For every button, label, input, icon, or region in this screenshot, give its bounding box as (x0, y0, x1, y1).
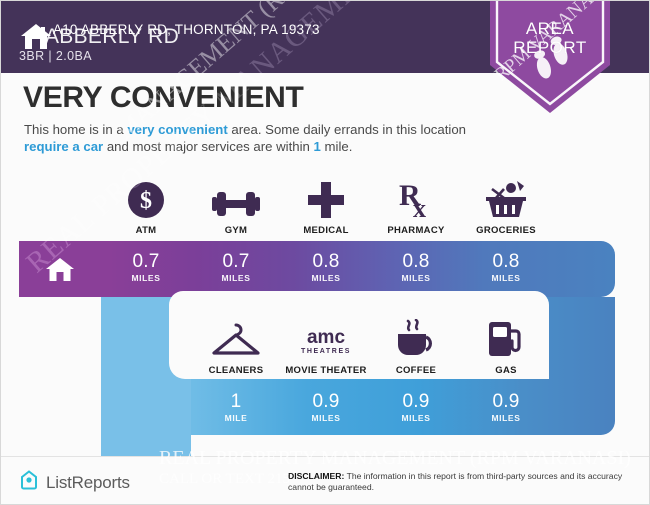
amenity-gas: GAS (461, 317, 551, 376)
amenity-gym: GYM (191, 177, 281, 236)
distance-cell: 0.9 MILES (461, 391, 551, 423)
amenity-label: CLEANERS (191, 365, 281, 376)
svg-text:THEATRES: THEATRES (301, 348, 351, 355)
amenity-label: PHARMACY (371, 225, 461, 236)
distance-cell: 0.8 MILES (461, 251, 551, 283)
property-beds-baths: 3BR | 2.0BA (19, 49, 92, 63)
badge-line-1: AREA (488, 19, 612, 38)
amenity-label: MEDICAL (281, 225, 371, 236)
amenity-icon-row-2: CLEANERS amc THEATRES MOVIE THEATER COFF… (191, 317, 551, 379)
desc-highlight-3: 1 (314, 139, 321, 154)
listreports-brand[interactable]: ListReports (19, 470, 130, 495)
amenity-label: GYM (191, 225, 281, 236)
distance-unit: MILES (461, 413, 551, 423)
distance-value: 0.8 (371, 251, 461, 272)
home-marker (19, 241, 101, 297)
badge-label: AREA REPORT (488, 19, 612, 57)
amenity-label: COFFEE (371, 365, 461, 376)
atm-dollar-icon: $ (101, 177, 191, 219)
desc-highlight-1: very convenient (127, 122, 227, 137)
house-icon (45, 256, 75, 283)
disclaimer-label: DISCLAIMER: (288, 471, 344, 481)
desc-highlight-2: require a car (24, 139, 103, 154)
amenity-label: GAS (461, 365, 551, 376)
distance-value: 0.9 (371, 391, 461, 412)
amenity-movie-theater: amc THEATRES MOVIE THEATER (281, 317, 371, 376)
distance-cell: 0.7 MILES (191, 251, 281, 283)
distance-cell: 0.9 MILES (281, 391, 371, 423)
summary-description: This home is in a very convenient area. … (24, 121, 474, 155)
footer-divider (1, 456, 650, 457)
distance-value: 1 (191, 391, 281, 412)
distance-value: 0.7 (191, 251, 281, 272)
gas-pump-icon (461, 317, 551, 359)
distance-cell: 0.8 MILES (371, 251, 461, 283)
desc-part-4: mile. (321, 139, 353, 154)
amenity-pharmacy: R x PHARMACY (371, 177, 461, 236)
distance-value: 0.9 (461, 391, 551, 412)
medical-cross-icon (281, 177, 371, 219)
badge-line-2: REPORT (488, 38, 612, 57)
distance-unit: MILES (281, 273, 371, 283)
svg-text:$: $ (140, 188, 152, 214)
svg-text:amc: amc (307, 327, 345, 348)
groceries-basket-icon (461, 177, 551, 219)
gym-dumbbell-icon (191, 177, 281, 219)
area-report-page: ABBERLY RD A10 ABBERLY RD, THORNTON, PA … (0, 0, 650, 505)
distance-unit: MILES (191, 273, 281, 283)
desc-part-2: area. Some daily errands in this locatio… (228, 122, 466, 137)
distance-unit: MILES (281, 413, 371, 423)
listreports-logo-icon (19, 470, 39, 495)
distance-value: 0.9 (281, 391, 371, 412)
distance-cell: 1 MILE (191, 391, 281, 423)
distance-unit: MILES (461, 273, 551, 283)
desc-part-3: and most major services are within (103, 139, 313, 154)
amenity-coffee: COFFEE (371, 317, 461, 376)
distance-value: 0.8 (461, 251, 551, 272)
distance-unit: MILES (371, 273, 461, 283)
coffee-cup-icon (371, 317, 461, 359)
area-report-badge: AREA REPORT (488, 0, 612, 115)
pharmacy-rx-icon: R x (371, 177, 461, 219)
distance-cell: 0.7 MILES (101, 251, 191, 283)
amenity-groceries: GROCERIES (461, 177, 551, 236)
listreports-name: ListReports (46, 473, 130, 493)
distance-unit: MILES (101, 273, 191, 283)
footer: ListReports DISCLAIMER: The information … (1, 456, 650, 505)
svg-text:x: x (413, 194, 426, 219)
amenity-medical: MEDICAL (281, 177, 371, 236)
amenity-label: ATM (101, 225, 191, 236)
distance-value: 0.8 (281, 251, 371, 272)
distance-value: 0.7 (101, 251, 191, 272)
property-address-overlay: A10 ABBERLY RD, THORNTON, PA 19373 (53, 22, 320, 37)
amenity-icon-row-1: $ ATM GYM MEDI (101, 177, 615, 239)
distance-unit: MILE (191, 413, 281, 423)
amenity-label: GROCERIES (461, 225, 551, 236)
amc-theatres-logo-icon: amc THEATRES (281, 317, 371, 359)
amenity-atm: $ ATM (101, 177, 191, 236)
cleaners-hanger-icon (191, 317, 281, 359)
desc-part-1: This home is in a (24, 122, 127, 137)
distance-cell: 0.8 MILES (281, 251, 371, 283)
amenity-label: MOVIE THEATER (281, 365, 371, 376)
amenity-cleaners: CLEANERS (191, 317, 281, 376)
disclaimer: DISCLAIMER: The information in this repo… (288, 471, 633, 493)
distance-cell: 0.9 MILES (371, 391, 461, 423)
distance-unit: MILES (371, 413, 461, 423)
page-title: VERY CONVENIENT (23, 81, 304, 115)
